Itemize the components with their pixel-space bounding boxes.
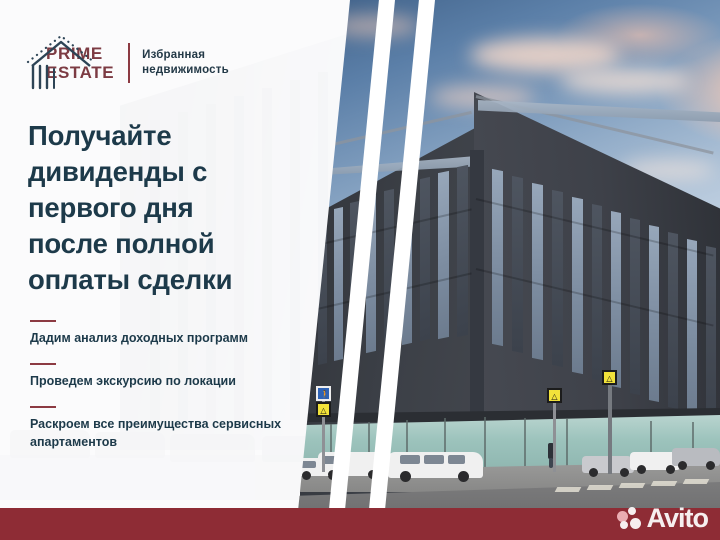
window — [457, 165, 468, 337]
avito-dots-icon — [617, 507, 643, 531]
crosswalk-stripe — [683, 479, 710, 484]
bullet-dash-icon — [30, 406, 56, 408]
crosswalk-glyph: △ — [551, 392, 558, 399]
car-wheel — [666, 465, 675, 474]
window — [592, 204, 602, 381]
avito-watermark: Avito — [617, 505, 709, 532]
window — [334, 207, 343, 361]
crosswalk-stripe — [619, 483, 646, 488]
brand-tagline-line2: недвижимость — [142, 63, 229, 78]
avito-label: Avito — [647, 505, 709, 532]
pedestrian-sign-blue: 🚶 — [316, 386, 331, 401]
car-wheel — [678, 461, 687, 470]
crosswalk-sign-yellow: △ — [547, 388, 562, 403]
brand-logo: PRIME ESTATE Избранная недвижимость — [24, 36, 229, 90]
crosswalk-stripe — [651, 481, 678, 486]
storefront-mullion — [524, 418, 526, 468]
brand-tagline-line1: Избранная — [142, 48, 229, 63]
cloud — [560, 68, 690, 94]
list-item: Дадим анализ доходных программ — [30, 320, 300, 347]
car-wheel — [400, 471, 411, 482]
window — [438, 171, 449, 339]
list-item-label: Дадим анализ доходных программ — [30, 329, 300, 347]
suv-window — [424, 455, 444, 464]
storefront-mullion — [484, 417, 486, 467]
corner-pier — [470, 150, 484, 420]
window — [492, 169, 503, 346]
brand-tagline: Избранная недвижимость — [142, 48, 229, 78]
crosswalk-glyph: △ — [320, 406, 327, 413]
pedestrian-glyph: 🚶 — [320, 390, 327, 397]
list-item: Раскроем все преимущества сервисных апар… — [30, 406, 300, 451]
window — [420, 177, 430, 341]
car-wheel — [589, 468, 598, 477]
benefits-list: Дадим анализ доходных программ Проведем … — [30, 320, 300, 451]
suv-window — [448, 455, 465, 464]
bullet-dash-icon — [30, 320, 56, 322]
crosswalk-sign-yellow: △ — [602, 370, 617, 385]
window — [706, 246, 716, 420]
crosswalk-sign-yellow: △ — [316, 402, 331, 417]
car-wheel — [302, 471, 311, 480]
crosswalk-stripe — [555, 487, 582, 492]
crosswalk-stripe — [587, 485, 614, 490]
window — [532, 183, 543, 360]
window — [512, 176, 523, 353]
car-wheel — [637, 465, 646, 474]
crosswalk-glyph: △ — [606, 374, 613, 381]
cloud — [470, 38, 620, 72]
bullet-dash-icon — [30, 363, 56, 365]
logo-divider — [128, 43, 130, 83]
list-item: Проведем экскурсию по локации — [30, 363, 300, 390]
page-title: Получайте дивиденды с первого дня после … — [28, 118, 278, 298]
car-wheel — [706, 461, 715, 470]
car-wheel — [620, 468, 629, 477]
advertising-banner: 🚶 △ △ △ — [0, 0, 720, 540]
window — [668, 232, 678, 409]
list-item-label: Проведем экскурсию по локации — [30, 372, 300, 390]
window — [687, 239, 697, 416]
storefront-mullion — [566, 419, 568, 469]
house-roof-icon — [24, 36, 98, 90]
list-item-label: Раскроем все преимущества сервисных апар… — [30, 415, 300, 451]
car-wheel — [458, 471, 469, 482]
light-pole — [608, 372, 612, 474]
footer-bar — [0, 508, 720, 540]
suv-window — [400, 455, 420, 464]
